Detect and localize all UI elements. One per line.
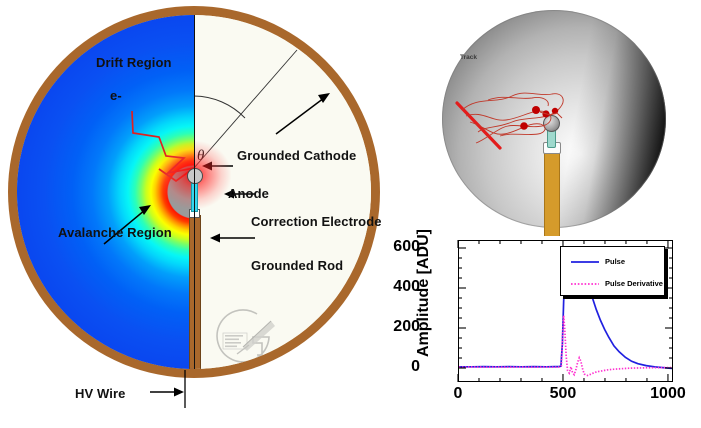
y-tick-label: 200 bbox=[393, 318, 420, 336]
x-tick-label: 1000 bbox=[650, 385, 686, 403]
anode-ball-3d bbox=[543, 115, 560, 132]
label-drift-region: Drift Region bbox=[96, 55, 172, 70]
y-tick-label: 0 bbox=[411, 358, 420, 376]
y-tick-label: 400 bbox=[393, 278, 420, 296]
chart-legend: Pulse Pulse Derivative bbox=[560, 246, 665, 296]
legend-swatch-pulse-derivative bbox=[571, 279, 599, 289]
label-track: Track bbox=[460, 54, 477, 61]
x-tick-label: 500 bbox=[550, 385, 577, 403]
lab-logo-watermark bbox=[213, 307, 277, 367]
anode-sphere bbox=[187, 168, 203, 184]
legend-label-pulse-derivative: Pulse Derivative bbox=[605, 279, 663, 288]
label-correction-electrode: Correction Electrode bbox=[251, 214, 382, 229]
detector-3d-panel: Track bbox=[400, 0, 701, 236]
label-grounded-cathode: Grounded Cathode bbox=[237, 148, 356, 163]
label-avalanche-region: Avalanche Region bbox=[58, 225, 172, 240]
y-tick-label: 600 bbox=[393, 238, 420, 256]
vertical-midline bbox=[194, 15, 195, 369]
label-grounded-rod: Grounded Rod bbox=[251, 258, 343, 273]
grounded-rod bbox=[189, 215, 201, 369]
label-electron: e- bbox=[110, 88, 122, 103]
legend-label-pulse: Pulse bbox=[605, 257, 625, 266]
label-hv-wire: HV Wire bbox=[75, 386, 125, 401]
x-tick-label: 0 bbox=[454, 385, 463, 403]
pulse-waveform-chart: Amplitude [ADU] 0200400600 05001000 Puls… bbox=[400, 232, 701, 428]
cross-section-sphere bbox=[8, 6, 380, 378]
vessel-interior bbox=[17, 15, 371, 369]
label-anode: Anode bbox=[228, 186, 269, 201]
detector-cross-section-panel: Drift Region e- Avalanche Region θ Groun… bbox=[0, 0, 400, 428]
hv-rod-3d bbox=[544, 148, 560, 236]
legend-swatch-pulse bbox=[571, 257, 599, 267]
